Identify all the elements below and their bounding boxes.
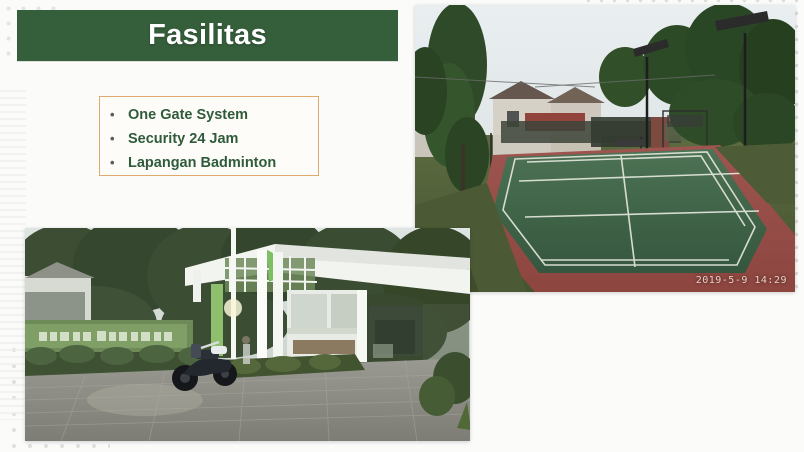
stripe-pattern-decoration-left <box>0 90 26 420</box>
entrance-gate-photo <box>25 228 470 441</box>
list-item-label: Lapangan Badminton <box>128 152 276 175</box>
entrance-gate-illustration <box>25 228 470 441</box>
list-item: • Security 24 Jam <box>110 127 310 151</box>
bullet-icon: • <box>110 103 128 126</box>
list-item: • One Gate System <box>110 103 310 127</box>
list-item-label: Security 24 Jam <box>128 128 238 151</box>
bullet-icon: • <box>110 151 128 174</box>
page-title: Fasilitas <box>148 21 267 50</box>
bullet-icon: • <box>110 127 128 150</box>
list-item: • Lapangan Badminton <box>110 151 310 175</box>
photo-timestamp: 2019-5-9 14:29 <box>696 275 787 286</box>
title-banner: Fasilitas <box>17 10 398 61</box>
badminton-court-illustration <box>415 5 795 292</box>
list-item-label: One Gate System <box>128 104 248 127</box>
facilities-list: • One Gate System • Security 24 Jam • La… <box>110 103 310 175</box>
facilities-list-box: • One Gate System • Security 24 Jam • La… <box>99 96 319 176</box>
presentation-slide: Fasilitas • One Gate System • Security 2… <box>0 0 804 452</box>
badminton-court-photo: 2019-5-9 14:29 <box>415 5 795 292</box>
